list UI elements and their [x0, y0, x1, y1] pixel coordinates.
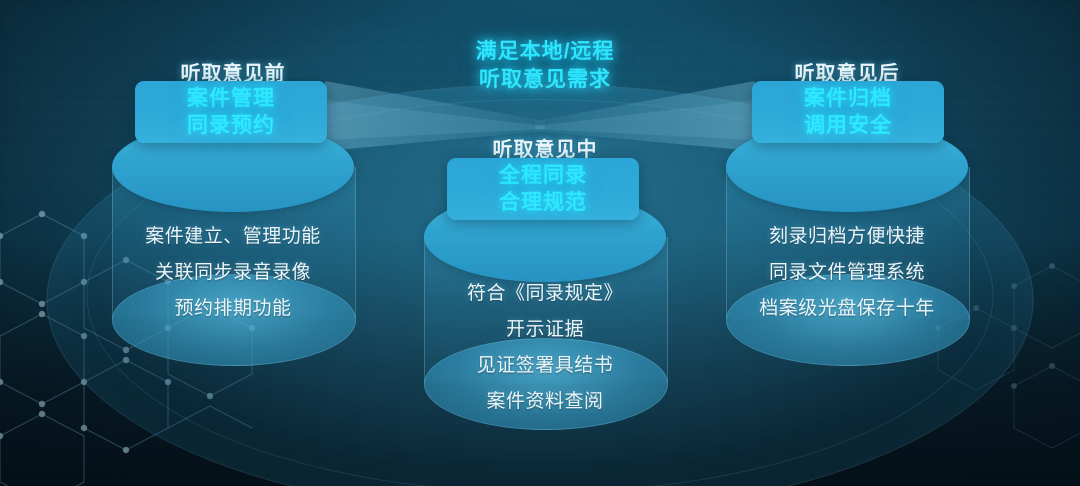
bullet-item: 档案级光盘保存十年	[697, 299, 997, 318]
bullet-item: 预约排期功能	[83, 299, 383, 318]
bullet-item: 案件建立、管理功能	[83, 227, 383, 246]
center-headline: 满足本地/远程 听取意见需求	[375, 38, 715, 93]
bullet-item: 案件资料查阅	[395, 392, 695, 411]
bullet-item: 符合《同录规定》	[395, 284, 695, 303]
bullets-before: 案件建立、管理功能 关联同步录音录像 预约排期功能	[83, 227, 383, 318]
bullets-after: 刻录归档方便快捷 同录文件管理系统 档案级光盘保存十年	[697, 227, 997, 318]
chip-before[interactable]: 案件管理 同录预约	[135, 81, 327, 143]
headline-line: 满足本地/远程	[375, 38, 715, 66]
bullets-during: 符合《同录规定》 开示证据 见证签署具结书 案件资料查阅	[395, 284, 695, 411]
bullet-item: 刻录归档方便快捷	[697, 227, 997, 246]
chip-line: 案件管理	[187, 85, 275, 112]
bullet-item: 同录文件管理系统	[697, 263, 997, 282]
chip-line: 调用安全	[804, 112, 892, 139]
chip-line: 全程同录	[499, 162, 587, 189]
chip-during[interactable]: 全程同录 合理规范	[447, 158, 639, 220]
bullet-item: 开示证据	[395, 320, 695, 339]
chip-line: 合理规范	[499, 189, 587, 216]
chip-line: 同录预约	[187, 112, 275, 139]
headline-line: 听取意见需求	[375, 66, 715, 94]
chip-line: 案件归档	[804, 85, 892, 112]
bullet-item: 见证签署具结书	[395, 356, 695, 375]
slide-canvas: 案件建立、管理功能 关联同步录音录像 预约排期功能 符合《同录规定》 开示证据 …	[0, 0, 1080, 486]
bullet-item: 关联同步录音录像	[83, 263, 383, 282]
chip-after[interactable]: 案件归档 调用安全	[752, 81, 944, 143]
